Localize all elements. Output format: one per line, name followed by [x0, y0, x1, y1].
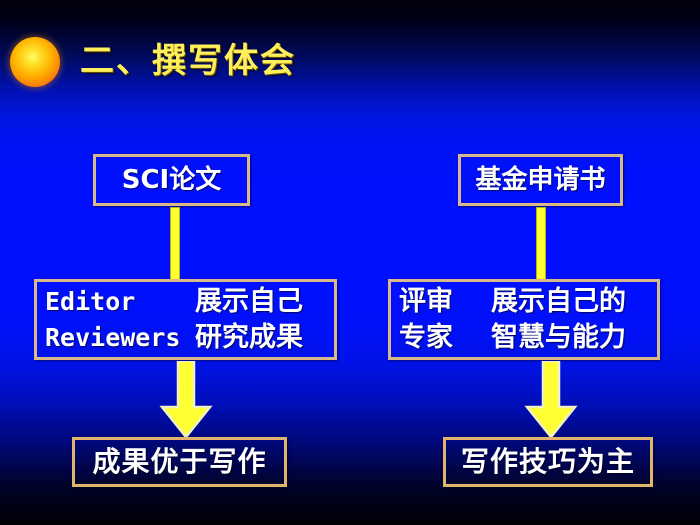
right-actor-2: 专家 [399, 320, 491, 356]
down-arrow-icon-left [158, 361, 214, 439]
box-left-conclusion-label: 成果优于写作 [92, 446, 266, 478]
left-actor-1: Editor [45, 284, 195, 320]
right-actor-1: 评审 [399, 284, 491, 320]
left-purpose-1: 展示自己 [195, 284, 303, 320]
left-actor-2: Reviewers [45, 320, 195, 356]
sun-sphere-icon [10, 37, 60, 87]
connector-left-top [170, 207, 180, 281]
box-left-actors-content: Editor 展示自己 Reviewers 研究成果 [37, 284, 334, 356]
box-right-actors[interactable]: 评审 展示自己的 专家 智慧与能力 [388, 279, 660, 360]
box-left-actors-row-2: Reviewers 研究成果 [45, 320, 326, 356]
slide-title-row: 二、撰写体会 [0, 32, 700, 94]
box-left-source[interactable]: SCI论文 [93, 154, 250, 206]
box-right-conclusion-label: 写作技巧为主 [461, 446, 635, 478]
slide-canvas: 二、撰写体会 SCI论文 Editor 展示自己 Reviewers 研究成果 … [0, 0, 700, 525]
box-left-conclusion[interactable]: 成果优于写作 [72, 437, 287, 487]
right-purpose-1: 展示自己的 [491, 284, 626, 320]
down-arrow-icon-right [523, 361, 579, 439]
box-right-actors-row-1: 评审 展示自己的 [399, 284, 649, 320]
connector-right-top [536, 207, 546, 281]
box-left-actors[interactable]: Editor 展示自己 Reviewers 研究成果 [34, 279, 337, 360]
page-title: 二、撰写体会 [80, 32, 296, 90]
right-purpose-2: 智慧与能力 [491, 320, 626, 356]
box-right-source-label: 基金申请书 [475, 165, 605, 195]
box-right-actors-content: 评审 展示自己的 专家 智慧与能力 [391, 284, 657, 356]
box-right-actors-row-2: 专家 智慧与能力 [399, 320, 649, 356]
left-purpose-2: 研究成果 [195, 320, 303, 356]
box-left-actors-row-1: Editor 展示自己 [45, 284, 326, 320]
box-right-conclusion[interactable]: 写作技巧为主 [443, 437, 653, 487]
box-left-source-label: SCI论文 [122, 165, 221, 195]
box-right-source[interactable]: 基金申请书 [458, 154, 623, 206]
